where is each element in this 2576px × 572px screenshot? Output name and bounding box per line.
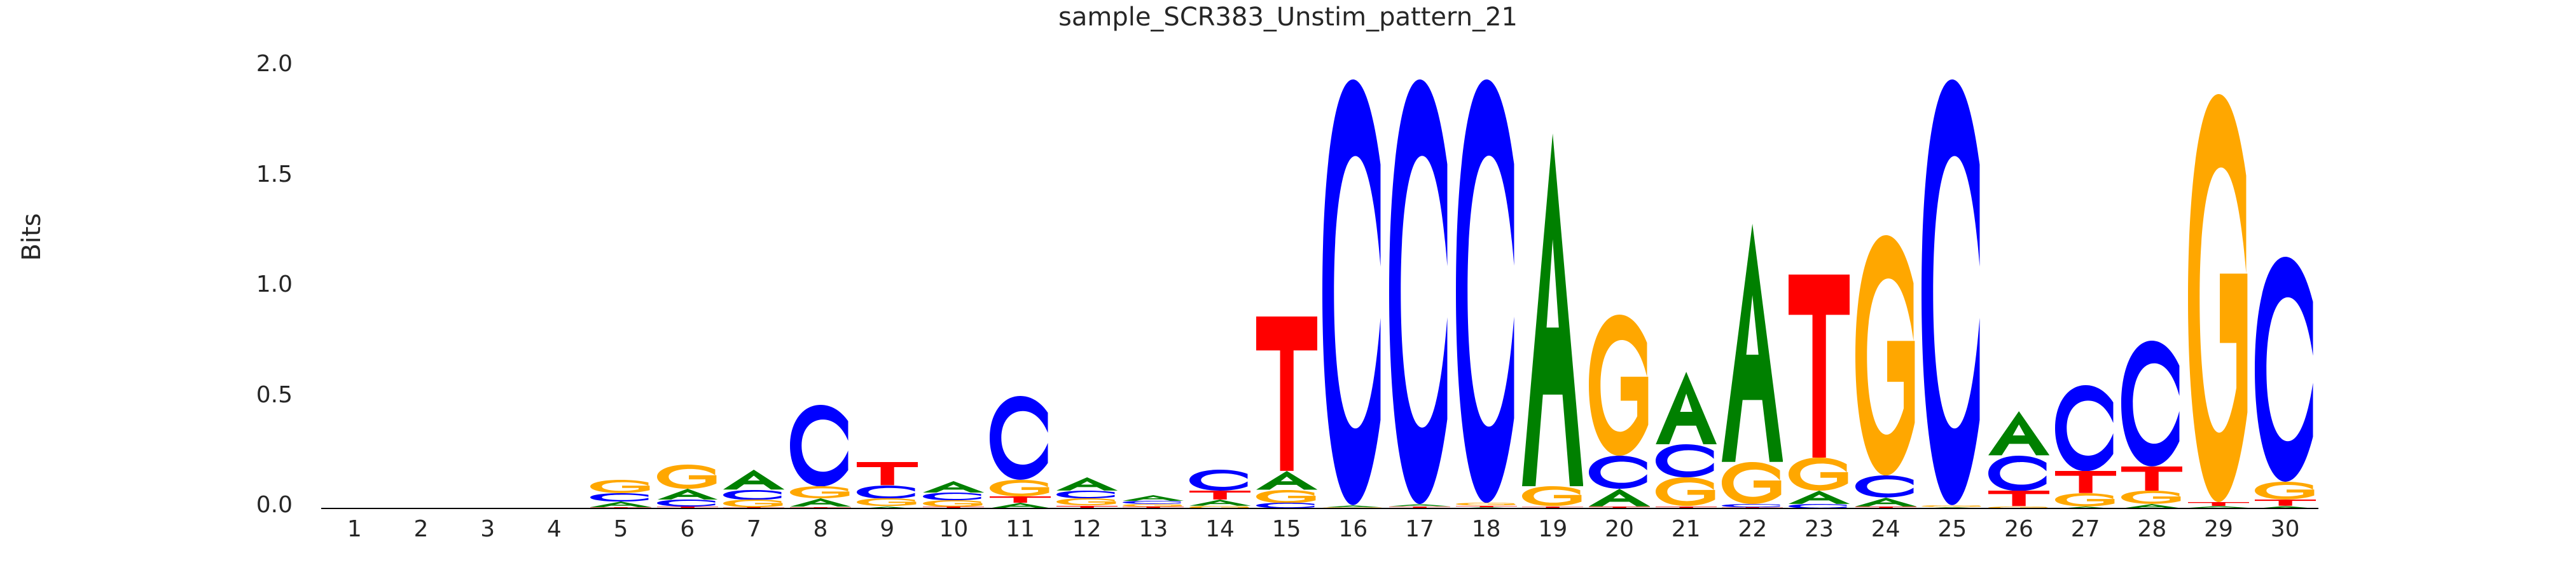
- logo-letter-c: [590, 493, 651, 501]
- logo-letter-t: [990, 496, 1051, 503]
- x-tick-label: 13: [1115, 516, 1191, 542]
- logo-letter-g: [723, 500, 784, 507]
- page-title: sample_SCR383_Unstim_pattern_21: [0, 3, 2576, 32]
- logo-column: [790, 67, 851, 508]
- logo-column: [1456, 67, 1517, 508]
- logo-column: [2055, 67, 2116, 508]
- x-tick-label: 6: [649, 516, 726, 542]
- y-tick-label: 1.5: [216, 163, 293, 186]
- x-tick-label: 16: [1315, 516, 1391, 542]
- logo-letter-a: [1189, 500, 1250, 506]
- logo-column: [1722, 67, 1783, 508]
- logo-column: [990, 67, 1051, 508]
- logo-column: [2188, 67, 2249, 508]
- logo-letter-g: [1656, 477, 1717, 506]
- logo-column: [590, 67, 651, 508]
- x-tick-label: 1: [316, 516, 392, 542]
- logo-column: [2255, 67, 2316, 508]
- logo-letter-g: [657, 465, 718, 489]
- logo-letter-g: [1256, 490, 1317, 503]
- logo-letter-t: [1256, 317, 1317, 471]
- logo-letter-c: [1922, 79, 1983, 505]
- logo-letter-a: [1656, 372, 1717, 445]
- logo-letter-t: [857, 462, 918, 485]
- logo-letter-c: [1589, 456, 1650, 489]
- logo-letter-a: [590, 501, 651, 507]
- logo-letter-t: [2255, 500, 2316, 506]
- y-axis-label: Bits: [17, 174, 46, 301]
- logo-letter-g: [857, 498, 918, 506]
- logo-column: [657, 67, 718, 508]
- logo-letter-c: [923, 493, 984, 500]
- logo-letter-a: [1589, 489, 1650, 507]
- logo-letter-c: [1456, 79, 1517, 503]
- x-tick-label: 17: [1381, 516, 1458, 542]
- logo-letter-c: [1056, 491, 1118, 498]
- logo-letter-g: [2188, 94, 2249, 502]
- logo-column: [1656, 67, 1717, 508]
- logo-letter-c: [1189, 470, 1250, 491]
- logo-letter-t: [1789, 275, 1850, 458]
- logo-letter-t: [1189, 491, 1250, 500]
- x-tick-label: 12: [1049, 516, 1125, 542]
- logo-letter-g: [1789, 458, 1850, 491]
- y-tick-label: 0.5: [216, 384, 293, 407]
- logo-letter-c: [790, 405, 851, 486]
- x-tick-label: 7: [716, 516, 792, 542]
- logo-letter-c: [1656, 444, 1717, 477]
- x-tick-label: 27: [2047, 516, 2124, 542]
- logo-column: [923, 67, 984, 508]
- logo-letter-t: [1988, 491, 2049, 506]
- x-tick-label: 18: [1448, 516, 1525, 542]
- x-tick-label: 14: [1182, 516, 1258, 542]
- y-axis-ticks: 0.00.51.01.52.0: [216, 0, 293, 572]
- x-tick-label: 22: [1714, 516, 1790, 542]
- logo-letter-g: [590, 480, 651, 493]
- x-tick-label: 3: [450, 516, 526, 542]
- logo-column: [2121, 67, 2182, 508]
- logo-letter-c: [1389, 79, 1450, 504]
- y-tick-label: 2.0: [216, 53, 293, 76]
- x-tick-label: 26: [1981, 516, 2057, 542]
- logo-plot-area: [321, 67, 2318, 508]
- x-tick-label: 24: [1848, 516, 1924, 542]
- logo-letter-c: [657, 500, 718, 507]
- x-tick-label: 21: [1648, 516, 1724, 542]
- logo-letter-c: [990, 396, 1051, 480]
- logo-column: [1522, 67, 1583, 508]
- logo-letter-g: [1056, 498, 1118, 505]
- logo-letter-g: [1722, 462, 1783, 504]
- logo-letter-t: [2055, 471, 2116, 493]
- logo-column: [857, 67, 918, 508]
- x-axis-line: [321, 508, 2318, 509]
- x-tick-label: 30: [2247, 516, 2323, 542]
- logo-letter-t: [2121, 466, 2182, 491]
- logo-letter-c: [2055, 385, 2116, 471]
- logo-letter-g: [1589, 315, 1650, 456]
- logo-column: [1389, 67, 1450, 508]
- logo-letter-c: [1988, 456, 2049, 491]
- logo-letter-c: [1855, 475, 1916, 498]
- logo-letter-g: [1522, 486, 1583, 506]
- logo-letter-g: [2121, 491, 2182, 504]
- logo-column: [723, 67, 784, 508]
- logo-letter-g: [1855, 235, 1916, 475]
- logo-letter-a: [657, 489, 718, 500]
- x-tick-label: 20: [1581, 516, 1658, 542]
- x-tick-label: 11: [982, 516, 1058, 542]
- x-tick-label: 28: [2114, 516, 2190, 542]
- logo-letter-g: [990, 480, 1051, 496]
- logo-column: [1789, 67, 1850, 508]
- logo-letter-a: [723, 470, 784, 489]
- x-tick-label: 25: [1914, 516, 1990, 542]
- logo-letter-c: [857, 486, 918, 499]
- x-tick-label: 4: [516, 516, 592, 542]
- logo-column: [1056, 67, 1118, 508]
- logo-letter-a: [790, 498, 851, 507]
- logo-column: [1855, 67, 1916, 508]
- logo-letter-c: [2255, 257, 2316, 482]
- logo-letter-a: [1988, 411, 2049, 455]
- logo-column: [1988, 67, 2049, 508]
- logo-letter-a: [1855, 498, 1916, 507]
- logo-column: [1256, 67, 1317, 508]
- logo-letter-g: [790, 486, 851, 498]
- x-tick-label: 19: [1514, 516, 1591, 542]
- logo-letter-a: [1522, 133, 1583, 486]
- x-tick-label: 10: [915, 516, 992, 542]
- x-tick-label: 2: [383, 516, 459, 542]
- logo-letter-g: [2255, 482, 2316, 500]
- logo-letter-c: [1322, 79, 1383, 505]
- logo-column: [1922, 67, 1983, 508]
- logo-letter-a: [1789, 491, 1850, 504]
- logo-letter-a: [1256, 471, 1317, 489]
- logo-column: [1322, 67, 1383, 508]
- logo-letter-a: [1123, 495, 1184, 501]
- y-tick-label: 0.0: [216, 494, 293, 517]
- logo-letter-c: [2121, 341, 2182, 466]
- logo-letter-a: [923, 481, 984, 493]
- logo-column: [1589, 67, 1650, 508]
- x-tick-label: 15: [1249, 516, 1325, 542]
- x-tick-label: 29: [2180, 516, 2257, 542]
- sequence-logo-figure: sample_SCR383_Unstim_pattern_21 Bits 0.0…: [0, 0, 2576, 572]
- x-tick-label: 8: [782, 516, 859, 542]
- logo-letter-g: [923, 500, 984, 507]
- logo-column: [1189, 67, 1250, 508]
- logo-letter-g: [2055, 493, 2116, 507]
- y-tick-label: 1.0: [216, 273, 293, 296]
- logo-letter-a: [1722, 224, 1783, 462]
- logo-letter-a: [1056, 477, 1118, 491]
- logo-column: [1123, 67, 1184, 508]
- x-tick-label: 5: [583, 516, 659, 542]
- logo-letter-c: [723, 490, 784, 500]
- x-tick-label: 9: [849, 516, 925, 542]
- x-tick-label: 23: [1781, 516, 1857, 542]
